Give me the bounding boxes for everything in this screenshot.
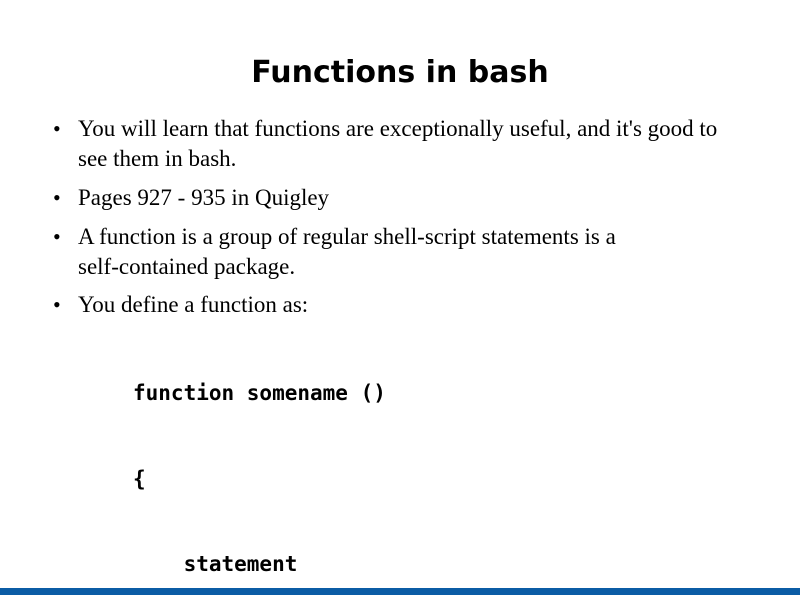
code-line-function-signature: function somename () — [133, 379, 760, 408]
bullet-marker-icon: • — [48, 183, 78, 213]
bullet-item-1: • You will learn that functions are exce… — [48, 114, 760, 174]
bullet-item-4: • You define a function as: — [48, 290, 760, 320]
bullet-marker-icon: • — [48, 114, 78, 144]
bullet-item-3: • A function is a group of regular shell… — [48, 222, 760, 282]
footer-accent-bar — [0, 588, 800, 595]
bullet-text-2: Pages 927 - 935 in Quigley — [78, 183, 760, 213]
code-line-statement-1: statement — [133, 550, 760, 579]
code-sample: function somename () { statement stateme… — [133, 322, 760, 600]
bullet-marker-icon: • — [48, 290, 78, 320]
bullet-text-3: A function is a group of regular shell-s… — [78, 222, 638, 282]
slide-body: • You will learn that functions are exce… — [48, 114, 760, 600]
code-line-open-brace: { — [133, 465, 760, 494]
slide-canvas: Functions in bash • You will learn that … — [0, 0, 800, 600]
bullet-text-4: You define a function as: — [78, 290, 760, 320]
bullet-marker-icon: • — [48, 222, 78, 252]
bullet-item-2: • Pages 927 - 935 in Quigley — [48, 183, 760, 213]
bullet-text-1: You will learn that functions are except… — [78, 114, 738, 174]
page-title: Functions in bash — [0, 55, 800, 91]
